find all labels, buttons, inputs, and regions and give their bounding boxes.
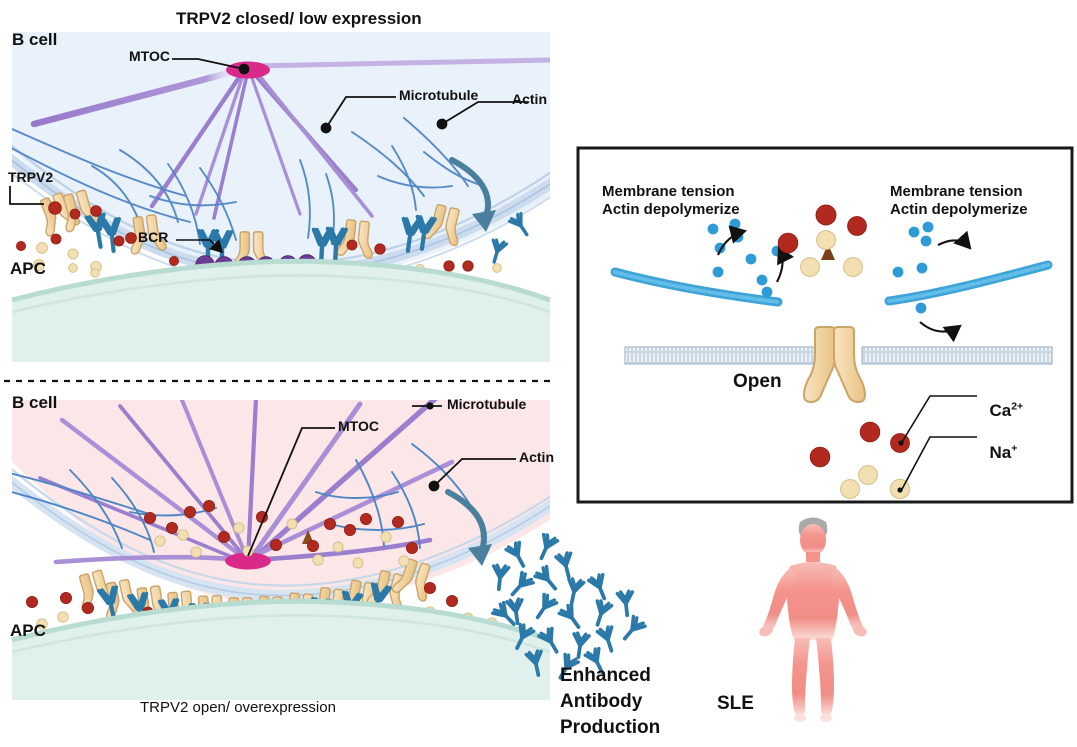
inset-tension-right-line2: Actin depolymerize (890, 202, 1028, 219)
calcium-ion-label: Ca2+ (980, 382, 1023, 420)
bottom-mtoc-label: MTOC (338, 419, 379, 435)
inset-tension-left-line2: Actin depolymerize (602, 202, 740, 219)
inset-open-label: Open (733, 371, 782, 392)
figure-canvas: TRPV2 closed/ low expression B cell MTOC… (0, 0, 1077, 747)
top-apc-label: APC (10, 259, 46, 278)
top-trpv2-label: TRPV2 (8, 170, 53, 186)
top-bcr-label: BCR (138, 230, 168, 246)
lipid-bilayer-left (625, 347, 823, 364)
figure-graphics (0, 0, 1077, 747)
sle-patient-figure (758, 518, 869, 723)
top-microtubule-label: Microtubule (399, 88, 478, 104)
enhanced-antibody-line3: Production (560, 717, 660, 738)
top-mtoc-label: MTOC (129, 49, 170, 65)
top-panel-graphics (0, 32, 560, 362)
top-actin-label: Actin (512, 92, 547, 108)
bottom-panel-title: TRPV2 open/ overexpression (140, 700, 336, 717)
top-panel-title: TRPV2 closed/ low expression (176, 9, 422, 28)
sle-label: SLE (717, 693, 754, 714)
bottom-actin-label: Actin (519, 450, 554, 466)
inset-tension-left-line1: Membrane tension (602, 184, 735, 201)
top-bcell-label: B cell (12, 30, 57, 49)
bottom-microtubule-label: Microtubule (447, 397, 526, 413)
bottom-apc-label: APC (10, 621, 46, 640)
bottom-panel-graphics (0, 398, 560, 700)
lipid-bilayer-right (862, 347, 1052, 364)
inset-tension-right-line1: Membrane tension (890, 184, 1023, 201)
mtoc-top (226, 62, 270, 79)
enhanced-antibody-line1: Enhanced (560, 665, 651, 686)
sodium-ion-label: Na+ (980, 424, 1017, 462)
bottom-bcell-label: B cell (12, 393, 57, 412)
enhanced-antibody-line2: Antibody (560, 691, 642, 712)
